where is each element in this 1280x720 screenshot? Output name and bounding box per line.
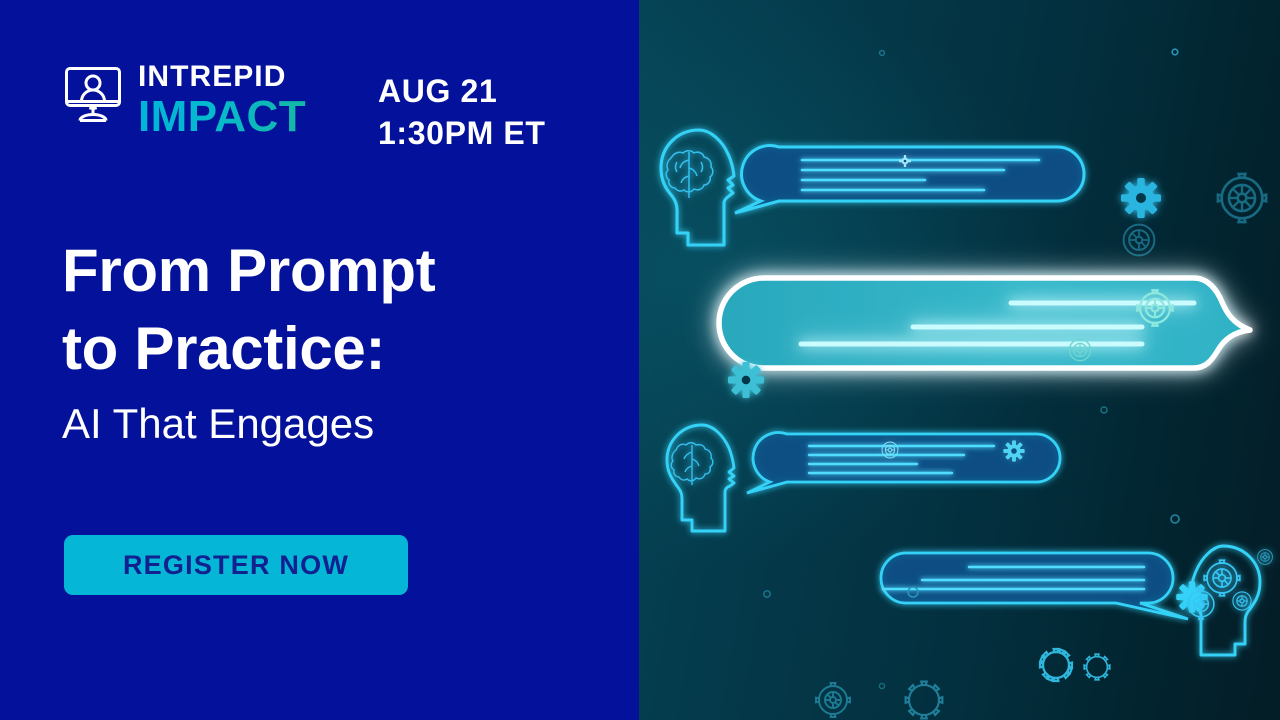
speech-bubble-featured [719, 278, 1250, 368]
gear-icon [1003, 440, 1024, 461]
brand-lockup: INTREPID IMPACT [62, 62, 306, 139]
gear-icon [1258, 550, 1273, 565]
brand-name-impact: IMPACT [138, 95, 306, 139]
brand-name-intrepid: INTREPID [138, 62, 306, 92]
left-content-panel: INTREPID IMPACT AUG 21 1:30PM ET From Pr… [0, 0, 639, 720]
page-title: From Prompt to Practice: AI That Engages [62, 232, 435, 451]
headline-subtitle: AI That Engages [62, 398, 435, 451]
gear-icon [1121, 178, 1161, 218]
speech-bubble-3 [747, 433, 1060, 493]
artwork-panel [639, 0, 1280, 720]
headline-line-1: From Prompt [62, 232, 435, 310]
speech-bubble-4 [881, 553, 1208, 619]
brand-wordmark: INTREPID IMPACT [138, 62, 306, 139]
webinar-monitor-person-icon [62, 62, 124, 124]
webinar-promo-banner: INTREPID IMPACT AUG 21 1:30PM ET From Pr… [0, 0, 1280, 720]
headline-line-2: to Practice: [62, 310, 435, 388]
event-date: AUG 21 [378, 70, 546, 112]
register-now-button[interactable]: REGISTER NOW [64, 535, 408, 595]
gear-icon [728, 362, 764, 398]
speech-bubble-1 [735, 146, 1084, 213]
neon-ai-chat-illustration [639, 0, 1280, 720]
event-datetime: AUG 21 1:30PM ET [378, 70, 546, 154]
head-with-brain-icon [667, 425, 734, 531]
event-time: 1:30PM ET [378, 112, 546, 154]
headline-main: From Prompt to Practice: [62, 232, 435, 388]
gear-icon-cluster [816, 642, 1115, 720]
head-with-brain-icon [661, 130, 734, 245]
head-with-gears-icon [1188, 546, 1272, 655]
